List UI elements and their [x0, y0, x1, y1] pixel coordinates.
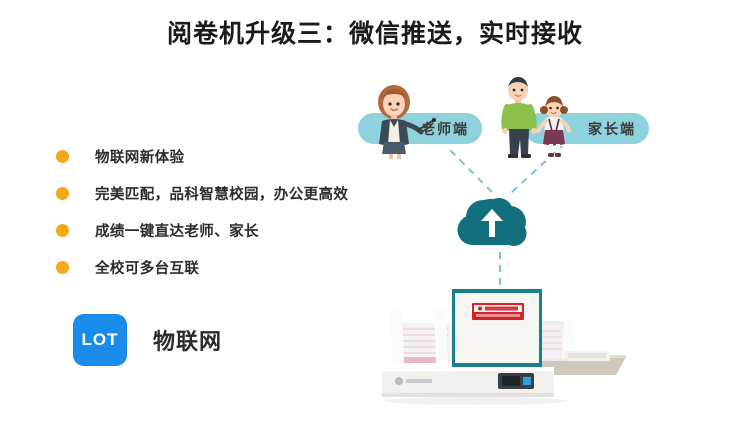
iot-label: 物联网 — [153, 324, 222, 356]
parent-and-child-illustration — [492, 74, 576, 160]
page-title: 阅卷机升级三：微信推送，实时接收 — [0, 14, 750, 50]
list-item: 成绩一键直达老师、家长 — [56, 212, 376, 249]
iot-badge-icon: LOT — [73, 314, 127, 366]
bullet-dot-icon — [56, 150, 69, 163]
list-item: 全校可多台互联 — [56, 249, 376, 286]
cloud-upload-icon — [453, 195, 533, 249]
bullet-text: 物联网新体验 — [95, 146, 184, 167]
slide-canvas: 阅卷机升级三：微信推送，实时接收 物联网新体验 完美匹配，品科智慧校园，办公更高… — [0, 0, 750, 433]
iot-badge-block: LOT 物联网 — [73, 314, 222, 366]
bullet-dot-icon — [56, 187, 69, 200]
bullet-text: 成绩一键直达老师、家长 — [95, 220, 259, 241]
bullet-text: 完美匹配，品科智慧校园，办公更高效 — [95, 183, 348, 204]
bullet-dot-icon — [56, 224, 69, 237]
bullet-list: 物联网新体验 完美匹配，品科智慧校园，办公更高效 成绩一键直达老师、家长 全校可… — [56, 138, 376, 286]
bullet-text: 全校可多台互联 — [95, 257, 199, 278]
teacher-illustration — [362, 78, 436, 160]
system-diagram: 老师端 — [340, 60, 740, 420]
list-item: 物联网新体验 — [56, 138, 376, 175]
marking-machine-illustration — [368, 275, 634, 410]
iot-badge-text: LOT — [82, 330, 119, 350]
bullet-dot-icon — [56, 261, 69, 274]
pill-label-parent: 家长端 — [588, 119, 636, 139]
list-item: 完美匹配，品科智慧校园，办公更高效 — [56, 175, 376, 212]
